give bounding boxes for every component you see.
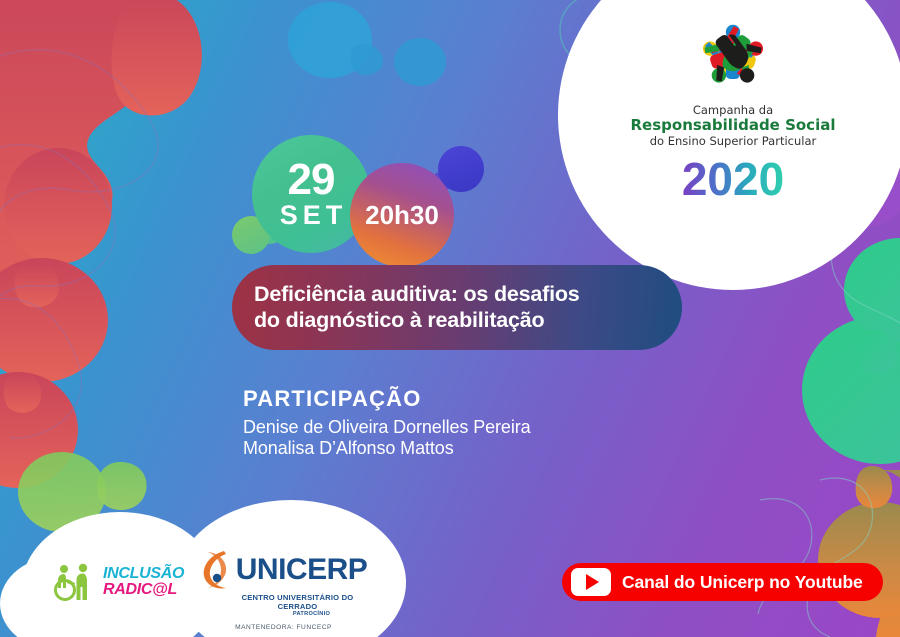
date-day: 29 xyxy=(288,159,335,201)
date-text-group: 29 SET xyxy=(252,135,370,253)
coral-blob-chain xyxy=(0,0,202,488)
participant-name-1: Denise de Oliveira Dornelles Pereira xyxy=(243,417,531,438)
youtube-play-icon xyxy=(571,568,611,596)
event-poster: Campanha da Responsabilidade Social do E… xyxy=(0,0,900,637)
play-triangle-icon xyxy=(586,574,599,590)
inclusao-line-1: INCLUSÃO xyxy=(103,566,184,582)
campaign-line-2: Responsabilidade Social xyxy=(631,117,836,134)
time-circle: 20h30 xyxy=(350,163,454,267)
participation-heading: PARTICIPAÇÃO xyxy=(243,386,531,412)
unicerp-name: UNICERP xyxy=(236,553,368,587)
unicerp-city: PATROCÍNIO xyxy=(196,611,371,617)
talk-title-line-1: Deficiência auditiva: os desafios xyxy=(254,282,580,307)
talk-title-text: Deficiência auditiva: os desafios do dia… xyxy=(232,282,580,333)
campaign-line-3: do Ensino Superior Particular xyxy=(650,134,817,148)
unicerp-name-row: UNICERP xyxy=(196,548,371,592)
date-time-badge: 29 SET 20h30 xyxy=(232,128,532,263)
inclusao-radical-logo: INCLUSÃO RADIC@L xyxy=(52,558,192,606)
teal-connector xyxy=(350,44,383,75)
time-text: 20h30 xyxy=(365,200,439,231)
wheelchair-accessibility-icon xyxy=(52,562,96,602)
unicerp-maintainer: MANTENEDORA: FUNCECP xyxy=(196,624,371,631)
inclusao-line-2: RADIC@L xyxy=(103,582,184,598)
talk-title-banner: Deficiência auditiva: os desafios do dia… xyxy=(232,265,682,350)
campaign-line-1: Campanha da xyxy=(693,103,773,117)
unicerp-subtitle: CENTRO UNIVERSITÁRIO DO CERRADO xyxy=(196,593,371,611)
campaign-year-text: 2020 xyxy=(682,154,784,204)
unicerp-logo: UNICERP CENTRO UNIVERSITÁRIO DO CERRADO … xyxy=(196,548,371,631)
inclusao-text-group: INCLUSÃO RADIC@L xyxy=(103,566,184,598)
campaign-year: 2020 xyxy=(658,154,808,204)
participation-section: PARTICIPAÇÃO Denise de Oliveira Dornelle… xyxy=(243,386,531,459)
people-circle-icon xyxy=(678,10,788,98)
youtube-channel-button[interactable]: Canal do Unicerp no Youtube xyxy=(562,563,883,601)
date-month: SET xyxy=(280,202,348,229)
youtube-button-label: Canal do Unicerp no Youtube xyxy=(622,572,863,593)
talk-title-line-2: do diagnóstico à reabilitação xyxy=(254,308,580,333)
campaign-logo: Campanha da Responsabilidade Social do E… xyxy=(558,0,900,290)
unicerp-swoosh-icon xyxy=(200,548,234,592)
lime-blob-small xyxy=(97,462,146,510)
teal-dot-2 xyxy=(394,38,446,86)
participant-name-2: Monalisa D’Alfonso Mattos xyxy=(243,438,531,459)
